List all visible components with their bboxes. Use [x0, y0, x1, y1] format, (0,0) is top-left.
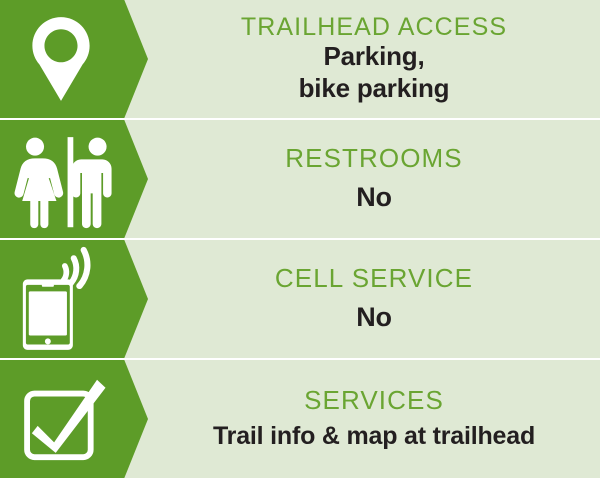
- map-pin-icon: [8, 6, 114, 112]
- trail-facilities-infographic: TRAILHEAD ACCESS Parking, bike parking: [0, 0, 600, 478]
- fact-text-restrooms: RESTROOMS No: [148, 120, 600, 238]
- fact-label-trailhead-access: TRAILHEAD ACCESS: [241, 14, 507, 40]
- fact-row-trailhead-access: TRAILHEAD ACCESS Parking, bike parking: [0, 0, 600, 118]
- fact-value-cell-service: No: [356, 302, 392, 333]
- fact-text-services: SERVICES Trail info & map at trailhead: [148, 360, 600, 478]
- fact-value-trailhead-access: Parking, bike parking: [299, 41, 450, 103]
- fact-label-services: SERVICES: [304, 387, 444, 414]
- icon-badge-services: [0, 360, 148, 478]
- fact-value-restrooms: No: [356, 182, 392, 213]
- fact-value-services: Trail info & map at trailhead: [213, 422, 535, 451]
- icon-badge-cell-service: [0, 240, 148, 358]
- fact-label-restrooms: RESTROOMS: [285, 145, 462, 172]
- icon-badge-restrooms: [0, 120, 148, 238]
- fact-label-cell-service: CELL SERVICE: [275, 265, 473, 292]
- fact-row-restrooms: RESTROOMS No: [0, 120, 600, 238]
- restrooms-icon: [8, 126, 114, 232]
- fact-row-services: SERVICES Trail info & map at trailhead: [0, 360, 600, 478]
- icon-badge-trailhead-access: [0, 0, 148, 118]
- cell-service-icon: [8, 246, 114, 352]
- checkbox-check-icon: [8, 366, 114, 472]
- fact-text-trailhead-access: TRAILHEAD ACCESS Parking, bike parking: [148, 0, 600, 118]
- fact-text-cell-service: CELL SERVICE No: [148, 240, 600, 358]
- fact-row-cell-service: CELL SERVICE No: [0, 240, 600, 358]
